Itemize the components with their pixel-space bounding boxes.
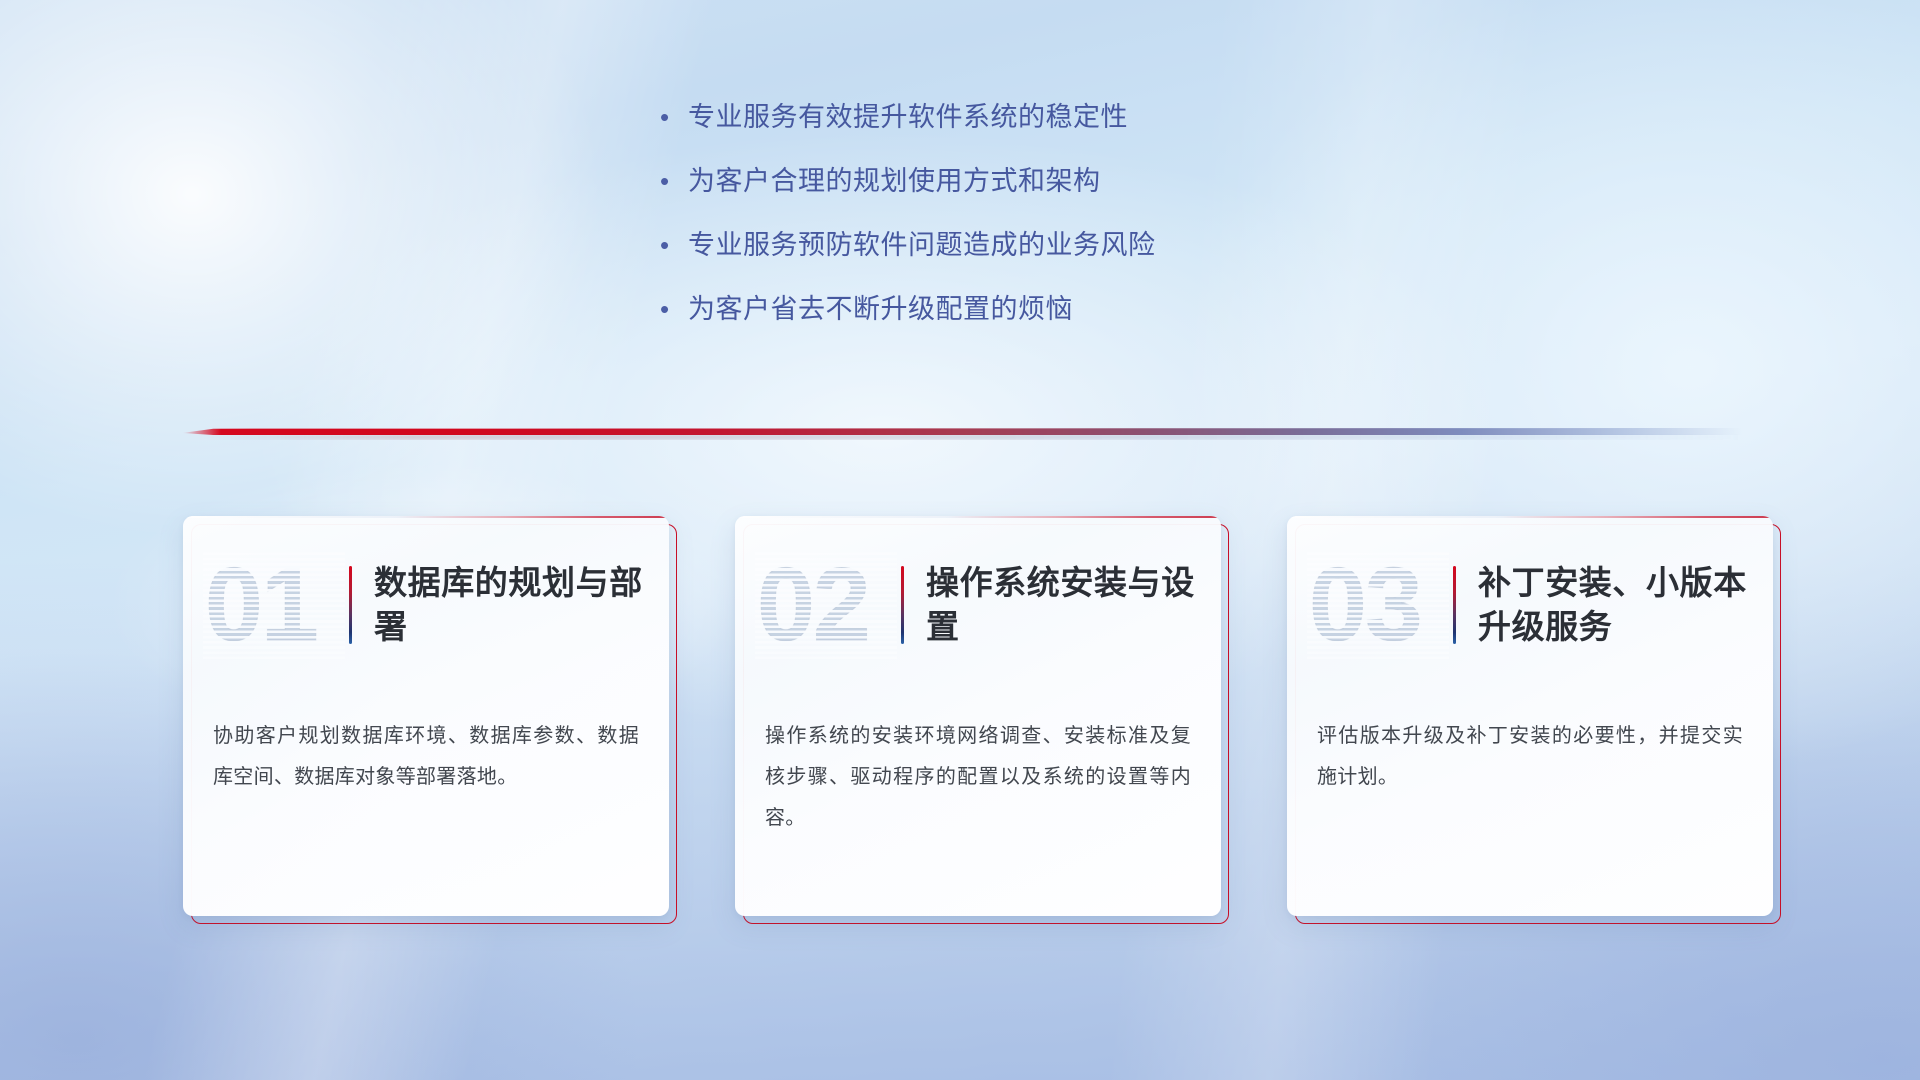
bullet-text: 专业服务预防软件问题造成的业务风险 — [688, 223, 1156, 262]
benefits-bullet-list: • 专业服务有效提升软件系统的稳定性 • 为客户合理的规划使用方式和架构 • 专… — [660, 95, 1420, 351]
bullet-marker-icon: • — [660, 168, 688, 194]
service-card[interactable]: 01 数据库的规划与部署 协助客户规划数据库环境、数据库参数、数据库空间、数据库… — [183, 516, 669, 916]
list-item: • 为客户省去不断升级配置的烦恼 — [660, 287, 1420, 351]
card-title-rule — [349, 566, 352, 644]
card-title: 操作系统安装与设置 — [926, 561, 1197, 649]
card-title-rule — [1453, 566, 1456, 644]
card-header: 01 数据库的规划与部署 — [183, 516, 669, 694]
card-number-watermark: 02 — [757, 550, 895, 660]
card-header: 03 补丁安装、小版本升级服务 — [1287, 516, 1773, 694]
list-item: • 专业服务预防软件问题造成的业务风险 — [660, 223, 1420, 287]
card-surface: 02 操作系统安装与设置 操作系统的安装环境网络调查、安装标准及复核步骤、驱动程… — [735, 516, 1221, 916]
service-card[interactable]: 02 操作系统安装与设置 操作系统的安装环境网络调查、安装标准及复核步骤、驱动程… — [735, 516, 1221, 916]
card-surface: 03 补丁安装、小版本升级服务 评估版本升级及补丁安装的必要性，并提交实施计划。 — [1287, 516, 1773, 916]
card-number-watermark: 03 — [1309, 550, 1447, 660]
card-title: 补丁安装、小版本升级服务 — [1478, 561, 1749, 649]
card-description: 操作系统的安装环境网络调查、安装标准及复核步骤、驱动程序的配置以及系统的设置等内… — [735, 694, 1221, 839]
bullet-text: 为客户省去不断升级配置的烦恼 — [688, 287, 1073, 326]
bullet-text: 专业服务有效提升软件系统的稳定性 — [688, 95, 1128, 134]
bullet-marker-icon: • — [660, 296, 688, 322]
bullet-marker-icon: • — [660, 232, 688, 258]
divider-line — [182, 428, 1742, 435]
card-surface: 01 数据库的规划与部署 协助客户规划数据库环境、数据库参数、数据库空间、数据库… — [183, 516, 669, 916]
list-item: • 专业服务有效提升软件系统的稳定性 — [660, 95, 1420, 159]
card-title: 数据库的规划与部署 — [374, 561, 645, 649]
card-header: 02 操作系统安装与设置 — [735, 516, 1221, 694]
section-divider — [182, 418, 1742, 440]
card-description: 评估版本升级及补丁安装的必要性，并提交实施计划。 — [1287, 694, 1773, 798]
slide-canvas: • 专业服务有效提升软件系统的稳定性 • 为客户合理的规划使用方式和架构 • 专… — [0, 0, 1920, 1080]
service-card-group: 01 数据库的规划与部署 协助客户规划数据库环境、数据库参数、数据库空间、数据库… — [183, 516, 1773, 916]
bullet-marker-icon: • — [660, 104, 688, 130]
list-item: • 为客户合理的规划使用方式和架构 — [660, 159, 1420, 223]
card-description: 协助客户规划数据库环境、数据库参数、数据库空间、数据库对象等部署落地。 — [183, 694, 669, 798]
bullet-text: 为客户合理的规划使用方式和架构 — [688, 159, 1101, 198]
card-number-watermark: 01 — [205, 550, 343, 660]
service-card[interactable]: 03 补丁安装、小版本升级服务 评估版本升级及补丁安装的必要性，并提交实施计划。 — [1287, 516, 1773, 916]
card-title-rule — [901, 566, 904, 644]
